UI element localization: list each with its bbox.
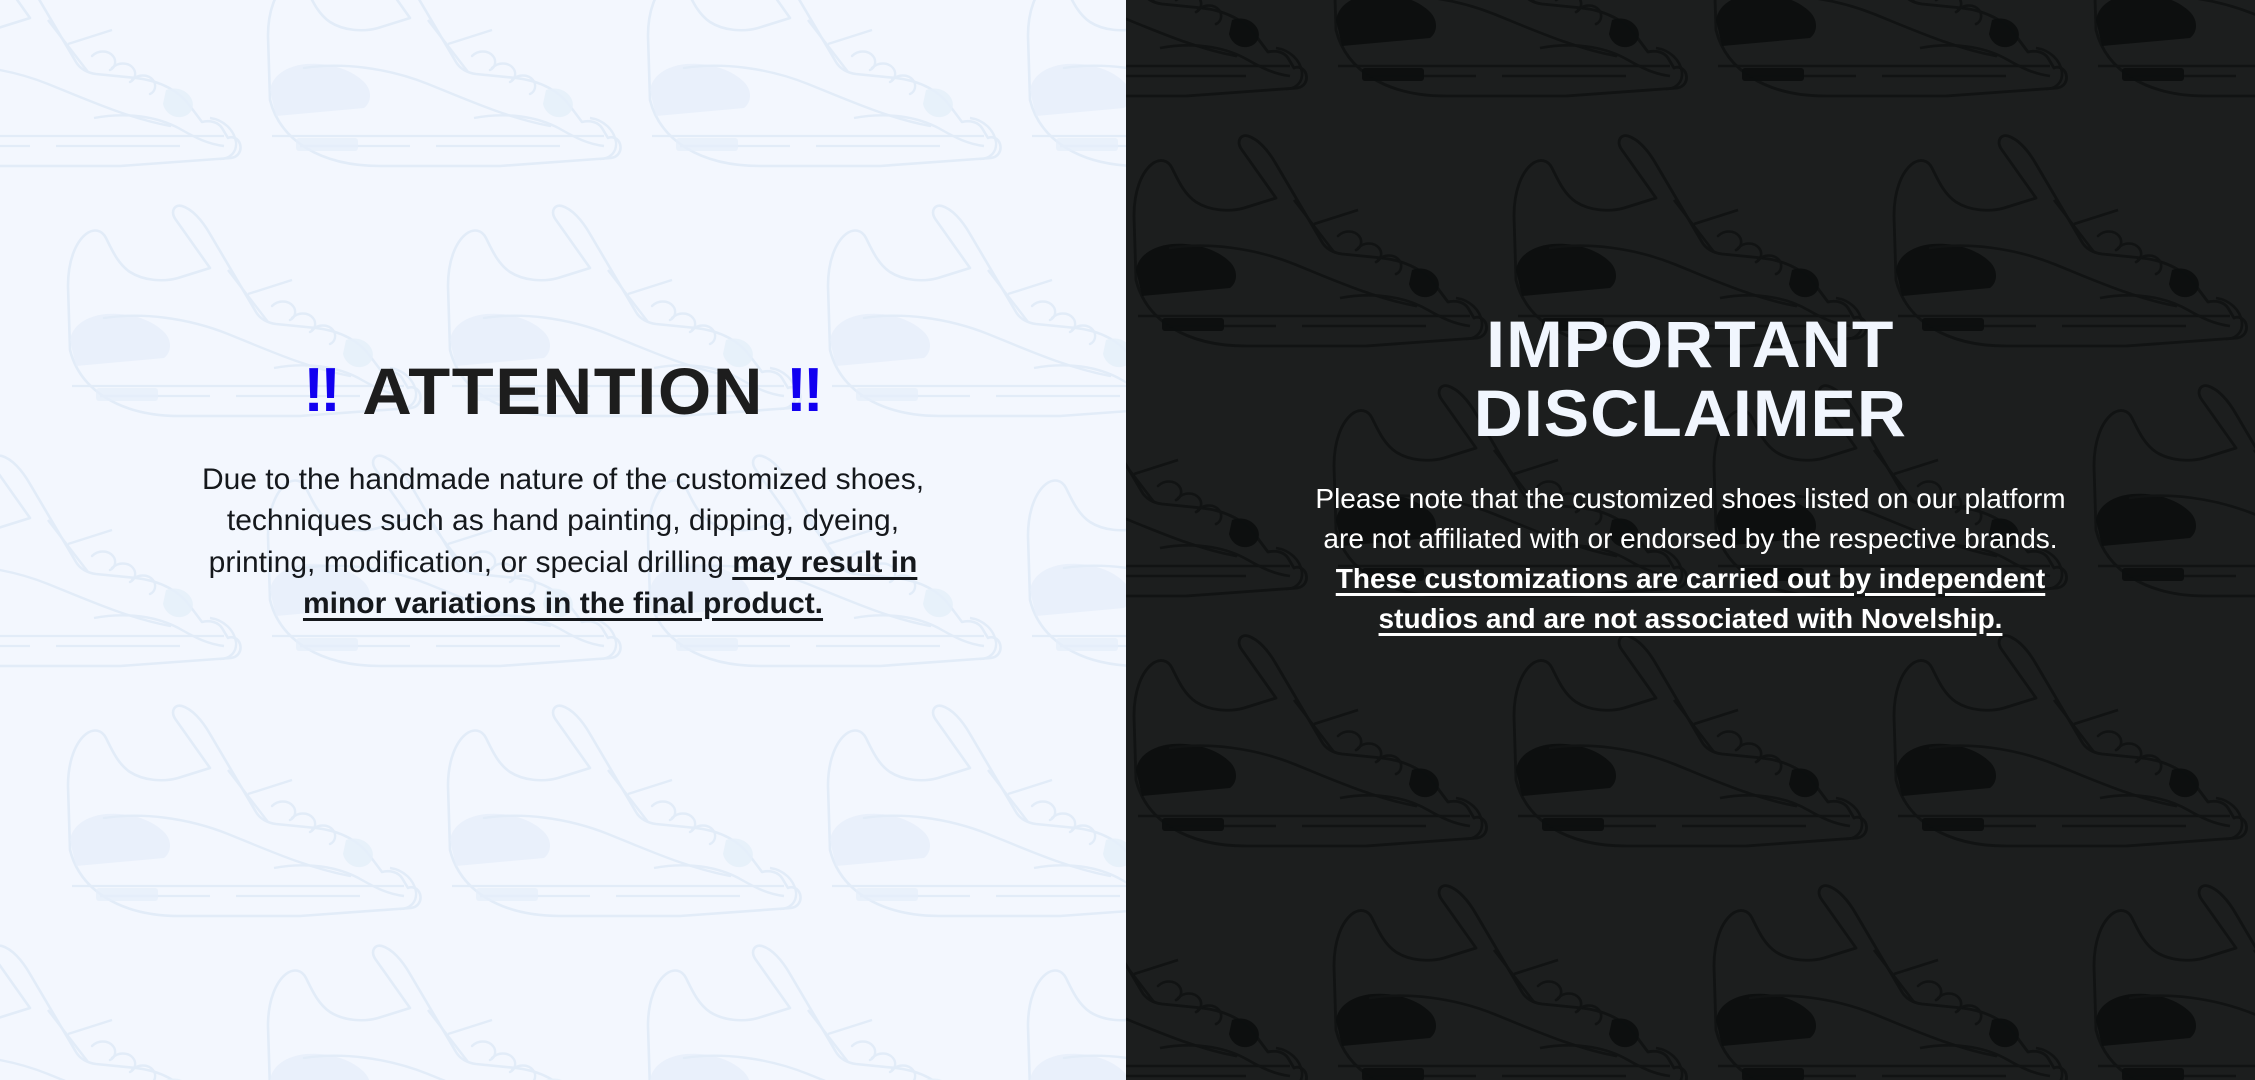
disclaimer-panel: IMPORTANT DISCLAIMER Please note that th… (1126, 0, 2255, 1080)
attention-panel: ‼ ATTENTION ‼ Due to the handmade nature… (0, 0, 1126, 1080)
attention-content: ‼ ATTENTION ‼ Due to the handmade nature… (0, 0, 1126, 625)
attention-heading: ‼ ATTENTION ‼ (303, 358, 822, 424)
double-exclamation-icon-left: ‼ (303, 360, 339, 422)
disclaimer-heading-line2: DISCLAIMER (1474, 379, 1907, 448)
disclaimer-banner: ‼ ATTENTION ‼ Due to the handmade nature… (0, 0, 2255, 1080)
disclaimer-heading-line1: IMPORTANT (1486, 307, 1894, 381)
disclaimer-content: IMPORTANT DISCLAIMER Please note that th… (1126, 0, 2255, 638)
disclaimer-body: Please note that the customized shoes li… (1306, 479, 2076, 638)
disclaimer-body-emphasis: These customizations are carried out by … (1336, 563, 2046, 634)
attention-heading-text: ATTENTION (362, 358, 764, 424)
disclaimer-body-normal: Please note that the customized shoes li… (1315, 483, 2065, 554)
disclaimer-heading: IMPORTANT DISCLAIMER (1474, 310, 1907, 447)
double-exclamation-icon-right: ‼ (786, 360, 822, 422)
attention-body: Due to the handmade nature of the custom… (173, 459, 953, 625)
